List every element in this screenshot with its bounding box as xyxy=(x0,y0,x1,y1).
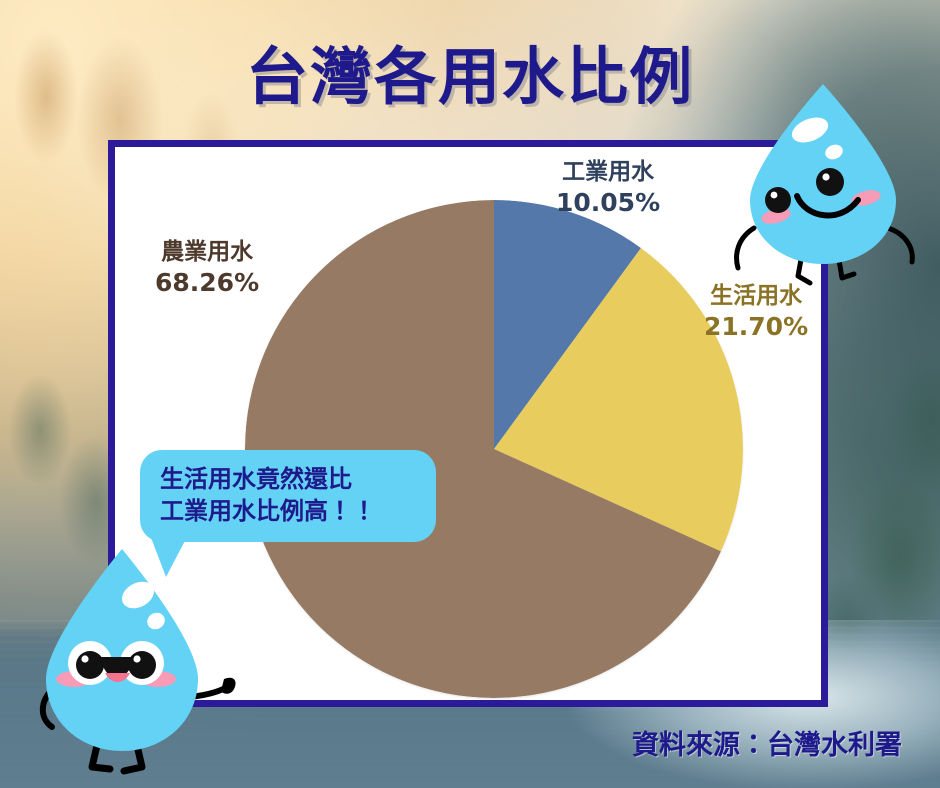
pie-label-industrial-name: 工業用水 xyxy=(556,158,660,187)
mascot-top-eye-right-glint xyxy=(822,173,829,180)
mascot-bottom-pupil-left xyxy=(76,651,104,679)
pie-label-domestic-value: 21.70% xyxy=(704,311,808,343)
infographic-canvas: 台灣各用水比例 工業用水 10.05% 生活用水 21.70% 農業用水 68.… xyxy=(0,0,940,788)
water-droplet-mascot-top xyxy=(718,78,928,294)
mascot-top-right-arm xyxy=(888,228,912,262)
mascot-bottom-eye-left-glint xyxy=(81,655,88,662)
mascot-top-eye-right xyxy=(816,168,844,196)
mascot-bottom-thumbs-up-icon xyxy=(221,678,236,694)
mascot-top-left-arm xyxy=(737,228,754,268)
mascot-top-eye-left-glint xyxy=(771,192,778,199)
source-caption: 資料來源：台灣水利署 xyxy=(632,723,902,762)
pie-label-agriculture-name: 農業用水 xyxy=(155,238,259,267)
mascot-top-eye-left xyxy=(765,187,791,213)
pie-label-agriculture: 農業用水 68.26% xyxy=(155,238,259,299)
mascot-bottom-eye-right-glint xyxy=(133,655,140,662)
speech-bubble-line-2: 工業用水比例高！！ xyxy=(160,496,436,528)
speech-bubble: 生活用水竟然還比 工業用水比例高！！ xyxy=(140,450,436,542)
speech-bubble-line-1: 生活用水竟然還比 xyxy=(160,464,436,496)
pie-label-industrial-value: 10.05% xyxy=(556,187,660,219)
mascot-bottom-pupil-right xyxy=(128,651,156,679)
pie-label-industrial: 工業用水 10.05% xyxy=(556,158,660,219)
pie-label-agriculture-value: 68.26% xyxy=(155,267,259,299)
pie-chart xyxy=(245,200,743,698)
mascot-bottom-body xyxy=(46,549,198,751)
water-droplet-mascot-bottom xyxy=(18,545,268,788)
